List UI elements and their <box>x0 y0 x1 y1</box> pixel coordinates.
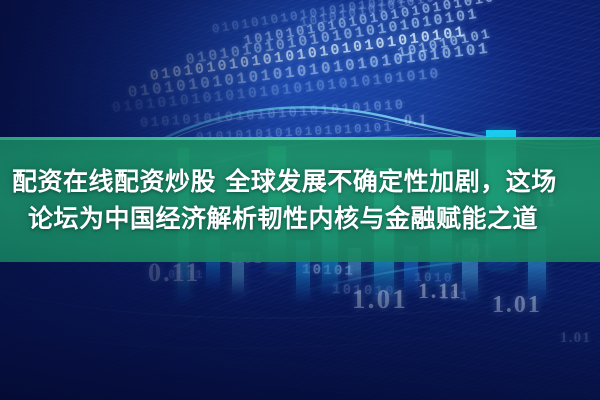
banner-image: 0101010101010101010101101010101010101010… <box>0 0 600 400</box>
headline-block: 配资在线配资炒股 全球发展不确定性加剧，这场 论坛为中国经济解析韧性内核与金融赋… <box>0 137 600 262</box>
headline-line-2: 论坛为中国经济解析韧性内核与金融赋能之道 <box>0 200 600 237</box>
headline-line-1: 配资在线配资炒股 全球发展不确定性加剧，这场 <box>0 163 600 200</box>
